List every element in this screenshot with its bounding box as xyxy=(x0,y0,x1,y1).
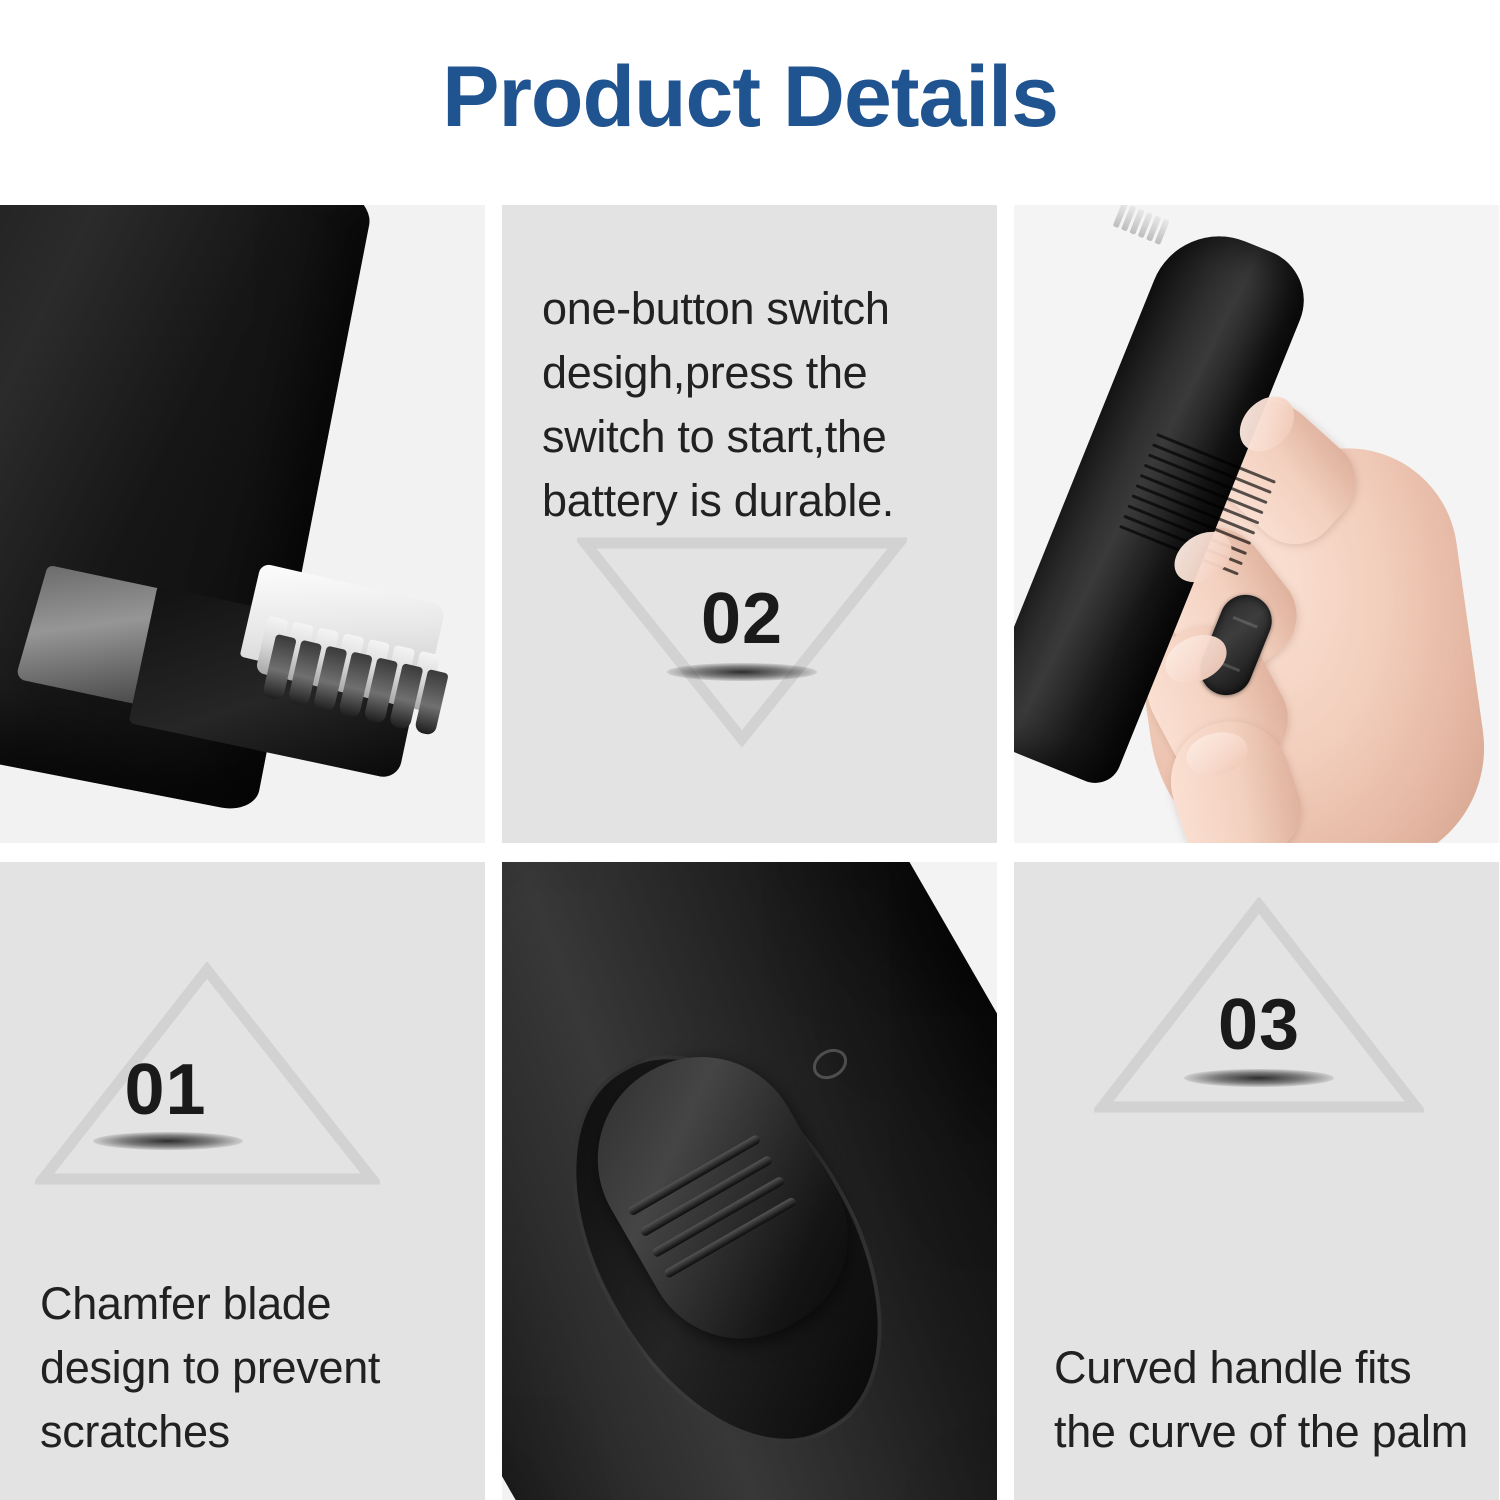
panel-blade-photo xyxy=(0,205,485,843)
panel-palm-caption: Curved handle fits the curve of the palm xyxy=(1054,1336,1473,1464)
badge-03: 03 xyxy=(1094,897,1424,1115)
badge-03-number: 03 xyxy=(1094,989,1424,1061)
badge-01: 01 xyxy=(35,962,380,1187)
page-title: Product Details xyxy=(0,52,1500,142)
badge-03-shadow xyxy=(1184,1069,1334,1087)
badge-02-number: 02 xyxy=(577,583,907,655)
panel-chamfer-caption: Chamfer blade design to prevent scratche… xyxy=(40,1272,459,1464)
panel-switch-caption: one-button switch desigh,press the switc… xyxy=(542,277,971,533)
panel-palm-text: 03 Curved handle fits the curve of the p… xyxy=(1014,862,1499,1500)
badge-02-shadow xyxy=(667,663,817,681)
panel-chamfer-text: 01 Chamfer blade design to prevent scrat… xyxy=(0,862,485,1500)
macro-photo-image xyxy=(502,862,997,1500)
badge-01-shadow xyxy=(93,1132,243,1150)
product-details-page: Product Details xyxy=(0,0,1500,1500)
details-grid: one-button switch desigh,press the switc… xyxy=(0,205,1500,1500)
panel-switch-text: one-button switch desigh,press the switc… xyxy=(502,205,997,843)
blade-photo-image xyxy=(0,205,485,843)
hand-photo-image xyxy=(1014,205,1499,843)
trimmer-blade-tip xyxy=(1110,205,1175,254)
badge-02: 02 xyxy=(577,535,907,747)
panel-macro-photo xyxy=(502,862,997,1500)
badge-01-number: 01 xyxy=(0,1054,338,1126)
panel-hand-photo xyxy=(1014,205,1499,843)
